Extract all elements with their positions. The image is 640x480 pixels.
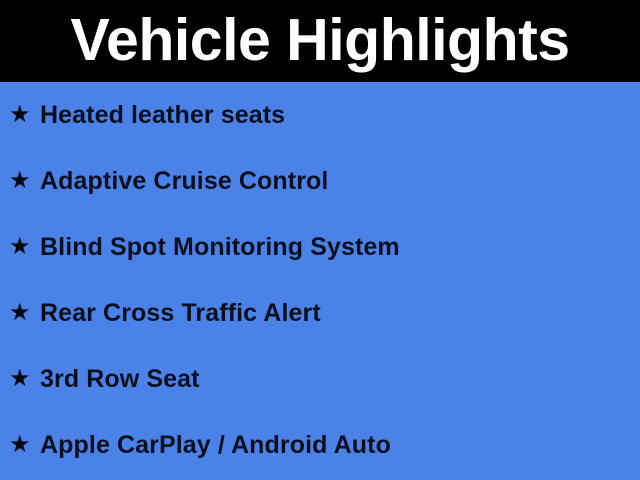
star-icon: ★ xyxy=(9,366,40,390)
page-title: Vehicle Highlights xyxy=(70,11,569,70)
star-icon: ★ xyxy=(9,432,40,456)
header-band: Vehicle Highlights xyxy=(0,0,640,82)
list-item: ★ Adaptive Cruise Control xyxy=(0,148,640,214)
star-icon: ★ xyxy=(9,102,40,126)
star-icon: ★ xyxy=(9,168,40,192)
highlight-label: Adaptive Cruise Control xyxy=(40,167,328,195)
highlight-label: Blind Spot Monitoring System xyxy=(40,233,400,261)
list-item: ★ Heated leather seats xyxy=(0,82,640,148)
list-item: ★ Apple CarPlay / Android Auto xyxy=(0,412,640,478)
star-icon: ★ xyxy=(9,234,40,258)
highlights-list: ★ Heated leather seats ★ Adaptive Cruise… xyxy=(0,82,640,480)
vehicle-highlights-slide: Vehicle Highlights ★ Heated leather seat… xyxy=(0,0,640,480)
star-icon: ★ xyxy=(9,300,40,324)
highlight-label: Heated leather seats xyxy=(40,101,285,129)
list-item: ★ Blind Spot Monitoring System xyxy=(0,214,640,280)
highlight-label: Apple CarPlay / Android Auto xyxy=(40,431,391,459)
highlight-label: Rear Cross Traffic Alert xyxy=(40,299,321,327)
highlight-label: 3rd Row Seat xyxy=(40,365,200,393)
list-item: ★ Rear Cross Traffic Alert xyxy=(0,280,640,346)
list-item: ★ 3rd Row Seat xyxy=(0,346,640,412)
